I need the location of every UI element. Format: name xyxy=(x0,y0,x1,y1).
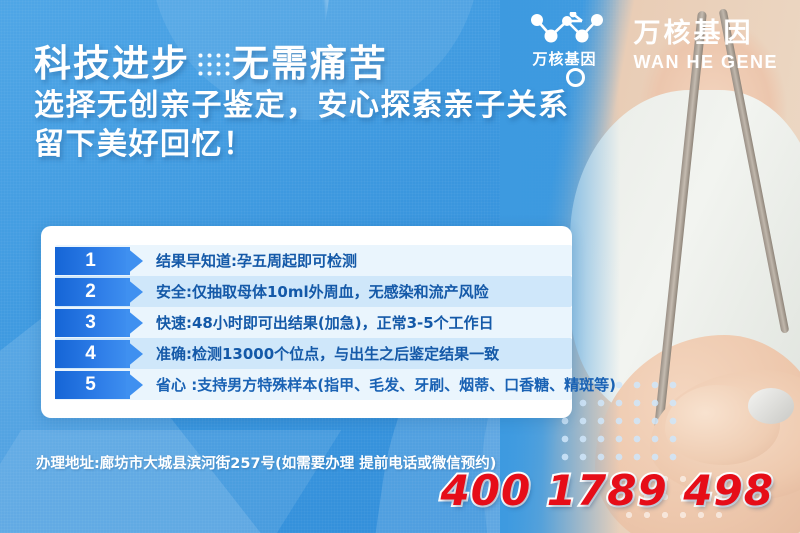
list-item: 3 快速:48小时即可出结果(加急)，正常3-5个工作日 xyxy=(55,307,572,338)
list-item: 5 省心 :支持男方特殊样本(指甲、毛发、牙刷、烟蒂、口香糖、精斑等) xyxy=(55,369,572,400)
feature-text: 省心 :支持男方特殊样本(指甲、毛发、牙刷、烟蒂、口香糖、精斑等) xyxy=(156,374,616,395)
dotted-separator-icon xyxy=(196,51,230,77)
feature-text: 准确:检测13000个位点，与出生之后鉴定结果一致 xyxy=(156,343,499,364)
feature-number-badge: 1 xyxy=(55,247,130,275)
feature-number-badge: 2 xyxy=(55,278,130,306)
office-address: 办理地址:廊坊市大城县滨河街257号(如需要办理 提前电话或微信预约) xyxy=(36,452,496,473)
stethoscope-chestpiece-icon xyxy=(748,388,794,424)
headline-line-1-part-a: 科技进步 xyxy=(34,40,190,87)
feature-text: 安全:仅抽取母体10ml外周血，无感染和流产风险 xyxy=(156,281,489,302)
feature-number-badge: 3 xyxy=(55,309,130,337)
feature-number-badge: 4 xyxy=(55,340,130,368)
brand-name-block: 万核基因 WAN HE GENE xyxy=(633,20,778,71)
headline-block: 科技进步 无需痛苦 选择无创亲子鉴定，安心探索亲子关系 留下美好回忆！ xyxy=(34,40,570,164)
headline-line-3: 留下美好回忆！ xyxy=(34,126,570,164)
brand-name-cn: 万核基因 xyxy=(633,20,778,47)
headline-line-1: 科技进步 无需痛苦 xyxy=(34,40,570,87)
promo-banner: 万核基因 万核基因 WAN HE GENE 科技进步 无需痛苦 选择无创亲子鉴定… xyxy=(0,0,800,533)
features-list: 1 结果早知道:孕五周起即可检测 2 安全:仅抽取母体10ml外周血，无感染和流… xyxy=(55,245,572,400)
brand-name-en: WAN HE GENE xyxy=(633,53,778,71)
list-item: 2 安全:仅抽取母体10ml外周血，无感染和流产风险 xyxy=(55,276,572,307)
feature-text: 快速:48小时即可出结果(加急)，正常3-5个工作日 xyxy=(156,312,494,333)
headline-line-1-part-b: 无需痛苦 xyxy=(232,40,388,87)
feature-text: 结果早知道:孕五周起即可检测 xyxy=(156,250,357,271)
list-item: 4 准确:检测13000个位点，与出生之后鉴定结果一致 xyxy=(55,338,572,369)
features-card: 1 结果早知道:孕五周起即可检测 2 安全:仅抽取母体10ml外周血，无感染和流… xyxy=(41,226,572,418)
background-swoosh-left-2 xyxy=(0,430,341,533)
headline-line-2: 选择无创亲子鉴定，安心探索亲子关系 xyxy=(34,87,570,125)
feature-number-badge: 5 xyxy=(55,371,130,399)
list-item: 1 结果早知道:孕五周起即可检测 xyxy=(55,245,572,276)
hotline-phone-number[interactable]: 400 1789 498 xyxy=(441,466,774,515)
